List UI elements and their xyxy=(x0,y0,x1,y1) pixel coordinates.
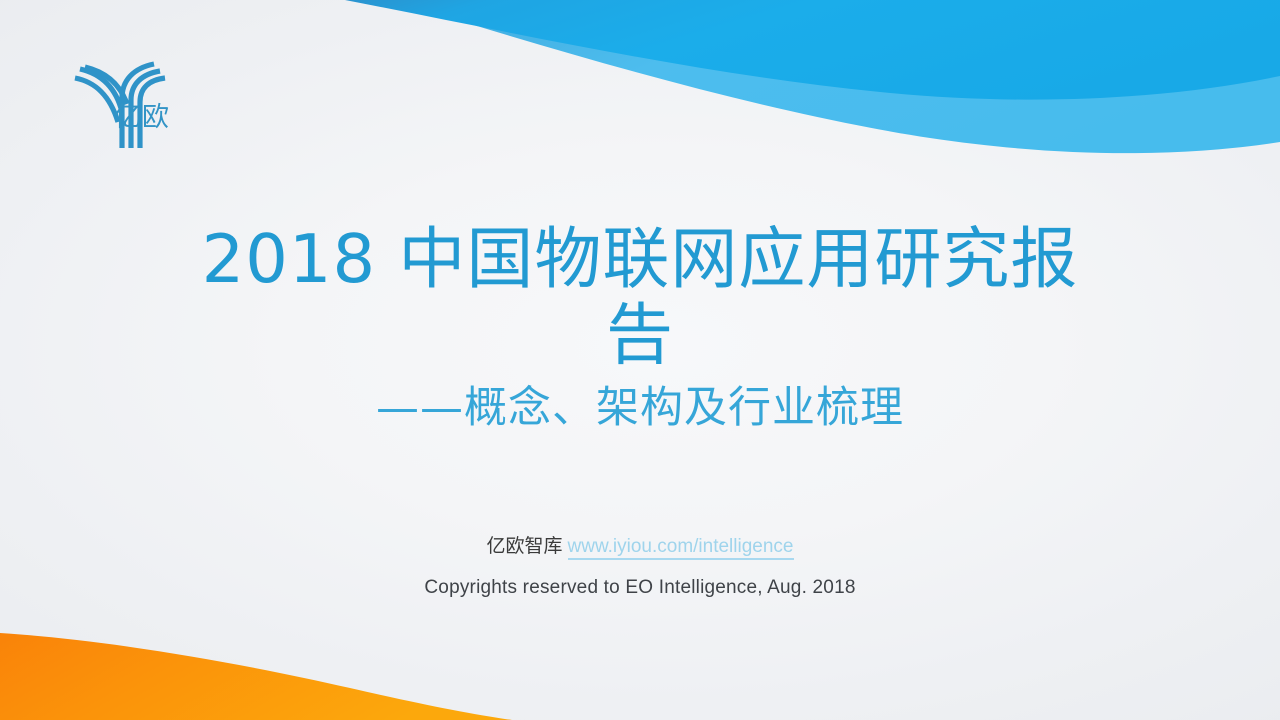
slide-canvas: 亿欧 2018 中国物联网应用研究报告 ——概念、架构及行业梳理 亿欧智库www… xyxy=(0,0,1280,720)
wave-orange xyxy=(0,633,512,720)
footer: 亿欧智库www.iyiou.com/intelligence Copyright… xyxy=(0,533,1280,600)
page-title: 2018 中国物联网应用研究报告 xyxy=(200,222,1080,373)
wave-blue-dark xyxy=(345,0,1280,100)
logo-wordmark: 亿欧 xyxy=(114,104,170,131)
wave-blue-light xyxy=(392,0,1280,153)
source-line: 亿欧智库www.iyiou.com/intelligence xyxy=(0,533,1280,560)
source-url-link[interactable]: www.iyiou.com/intelligence xyxy=(568,536,794,560)
copyright-text: Copyrights reserved to EO Intelligence, … xyxy=(0,576,1280,600)
page-subtitle: ——概念、架构及行业梳理 xyxy=(140,383,1140,435)
source-label: 亿欧智库 xyxy=(486,535,562,557)
title-block: 2018 中国物联网应用研究报告 ——概念、架构及行业梳理 xyxy=(0,222,1280,435)
